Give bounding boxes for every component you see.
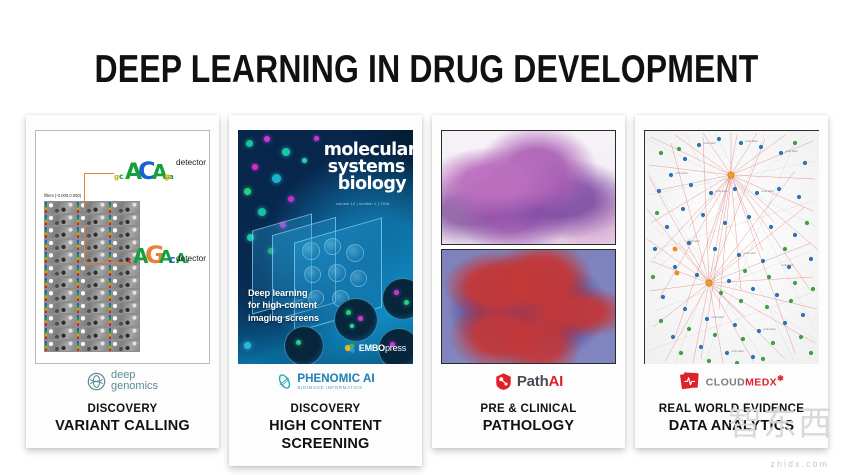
logo-pathai: PathAI bbox=[441, 364, 616, 398]
figure-network-graph: node labelnode label node labelnode labe… bbox=[644, 130, 819, 364]
embo-press-text: EMBOpress bbox=[359, 343, 406, 353]
card-pre-and-clinical-pathology[interactable]: PathAI PRE & CLINICAL PATHOLOGY bbox=[432, 115, 625, 448]
card-discovery-high-content-screening[interactable]: molecular systems biology volume 12 | nu… bbox=[229, 115, 422, 466]
svg-text:node label: node label bbox=[785, 150, 798, 153]
motif-logo-aca: g c A C A g a bbox=[112, 151, 174, 181]
leader-line-2b bbox=[84, 262, 132, 263]
cover-subtitle-line1: Deep learning bbox=[248, 287, 319, 300]
pathology-panel-he bbox=[441, 130, 616, 245]
logo-deep-genomics: deep genomics bbox=[35, 364, 210, 398]
cover-title-line3: biology bbox=[324, 176, 407, 193]
caption-big-1: VARIANT CALLING bbox=[30, 417, 215, 435]
card-row: filters (-0.000,0.000) bbox=[26, 115, 828, 466]
svg-text:node label: node label bbox=[687, 240, 700, 243]
card-real-world-evidence-data-analytics[interactable]: node labelnode label node labelnode labe… bbox=[635, 115, 828, 448]
pathai-mark bbox=[494, 372, 513, 391]
pathai-text: PathAI bbox=[517, 373, 563, 390]
embo-bold: EMBO bbox=[359, 343, 385, 353]
cloudmedx-text-accent: MEDX bbox=[745, 376, 777, 388]
phenomic-ai-mark bbox=[276, 373, 293, 390]
phenomic-ai-line2: BIOIMAGE INFORMATICS bbox=[297, 385, 374, 390]
svg-text:node label: node label bbox=[761, 190, 774, 193]
caption-big-3: PATHOLOGY bbox=[436, 417, 621, 435]
svg-text:node label: node label bbox=[715, 190, 728, 193]
embo-press-logo: EMBOpress bbox=[344, 342, 406, 354]
cover-title: molecular systems biology bbox=[324, 142, 407, 193]
cloudmedx-mark bbox=[679, 371, 701, 391]
logo-cloudmedx: CLOUDMEDX✱ bbox=[644, 364, 819, 398]
cover-volume-line: volume 12 | number 2 | 2016 bbox=[336, 202, 390, 206]
svg-text:node label: node label bbox=[781, 264, 794, 267]
page-title: DEEP LEARNING IN DRUG DEVELOPMENT bbox=[77, 48, 776, 92]
cloudmedx-star-icon: ✱ bbox=[777, 374, 784, 383]
embo-rest: press bbox=[385, 343, 406, 353]
svg-text:a: a bbox=[169, 173, 174, 181]
cover-subtitle: Deep learning for high-content imaging s… bbox=[248, 287, 319, 325]
pathology-panel-segmentation bbox=[441, 249, 616, 364]
card-discovery-variant-calling[interactable]: filters (-0.000,0.000) bbox=[26, 115, 219, 448]
filter-grid bbox=[44, 201, 140, 353]
svg-text:node label: node label bbox=[745, 140, 758, 143]
network-graph-svg: node labelnode label node labelnode labe… bbox=[644, 130, 819, 364]
caption-big-4: DATA ANALYTICS bbox=[639, 417, 824, 435]
filters-label: filters (-0.000,0.000) bbox=[44, 193, 81, 198]
figure-journal-cover: molecular systems biology volume 12 | nu… bbox=[238, 130, 413, 364]
embo-mark-icon bbox=[344, 342, 356, 354]
cloudmedx-text-grey: CLOUD bbox=[706, 376, 745, 388]
leader-line-1b bbox=[84, 173, 114, 174]
figure-sequence-logo: filters (-0.000,0.000) bbox=[35, 130, 210, 364]
logo-phenomic-ai: PHENOMIC AI BIOIMAGE INFORMATICS bbox=[238, 364, 413, 398]
svg-text:c: c bbox=[169, 253, 176, 265]
deep-genomics-mark bbox=[87, 372, 106, 391]
cloudmedx-text: CLOUDMEDX✱ bbox=[706, 374, 784, 389]
slide-root: DEEP LEARNING IN DRUG DEVELOPMENT filter… bbox=[0, 0, 853, 475]
detector-label-2: detector bbox=[176, 253, 206, 263]
caption-card-3: PRE & CLINICAL PATHOLOGY bbox=[436, 398, 621, 444]
detector-label-1: detector bbox=[176, 157, 206, 167]
svg-text:node label: node label bbox=[763, 328, 776, 331]
caption-small-3: PRE & CLINICAL bbox=[436, 402, 621, 417]
leader-line-2 bbox=[84, 227, 85, 263]
figure-pathology-panels bbox=[441, 130, 616, 364]
caption-card-2: DISCOVERY HIGH CONTENT SCREENING bbox=[233, 398, 418, 462]
caption-big2-2: SCREENING bbox=[233, 435, 418, 453]
pathai-text-dark: Path bbox=[517, 373, 549, 390]
svg-text:node label: node label bbox=[703, 142, 716, 145]
caption-card-1: DISCOVERY VARIANT CALLING bbox=[30, 398, 215, 444]
caption-small-1: DISCOVERY bbox=[30, 402, 215, 417]
svg-text:node label: node label bbox=[711, 316, 724, 319]
pathai-text-accent: AI bbox=[549, 373, 564, 390]
leader-line-1 bbox=[84, 173, 85, 211]
cover-subtitle-line3: imaging screens bbox=[248, 312, 319, 325]
svg-text:c: c bbox=[119, 172, 124, 181]
caption-big-2: HIGH CONTENT bbox=[233, 417, 418, 435]
caption-small-2: DISCOVERY bbox=[233, 402, 418, 417]
phenomic-ai-line1: PHENOMIC AI bbox=[297, 373, 374, 385]
svg-text:node label: node label bbox=[743, 252, 756, 255]
svg-text:t: t bbox=[128, 257, 132, 265]
svg-text:node label: node label bbox=[731, 350, 744, 353]
caption-small-4: REAL WORLD EVIDENCE bbox=[639, 402, 824, 417]
caption-card-4: REAL WORLD EVIDENCE DATA ANALYTICS bbox=[639, 398, 824, 444]
deep-genomics-line2: genomics bbox=[111, 381, 158, 392]
cover-subtitle-line2: for high-content bbox=[248, 299, 319, 312]
svg-text:node label: node label bbox=[675, 172, 688, 175]
